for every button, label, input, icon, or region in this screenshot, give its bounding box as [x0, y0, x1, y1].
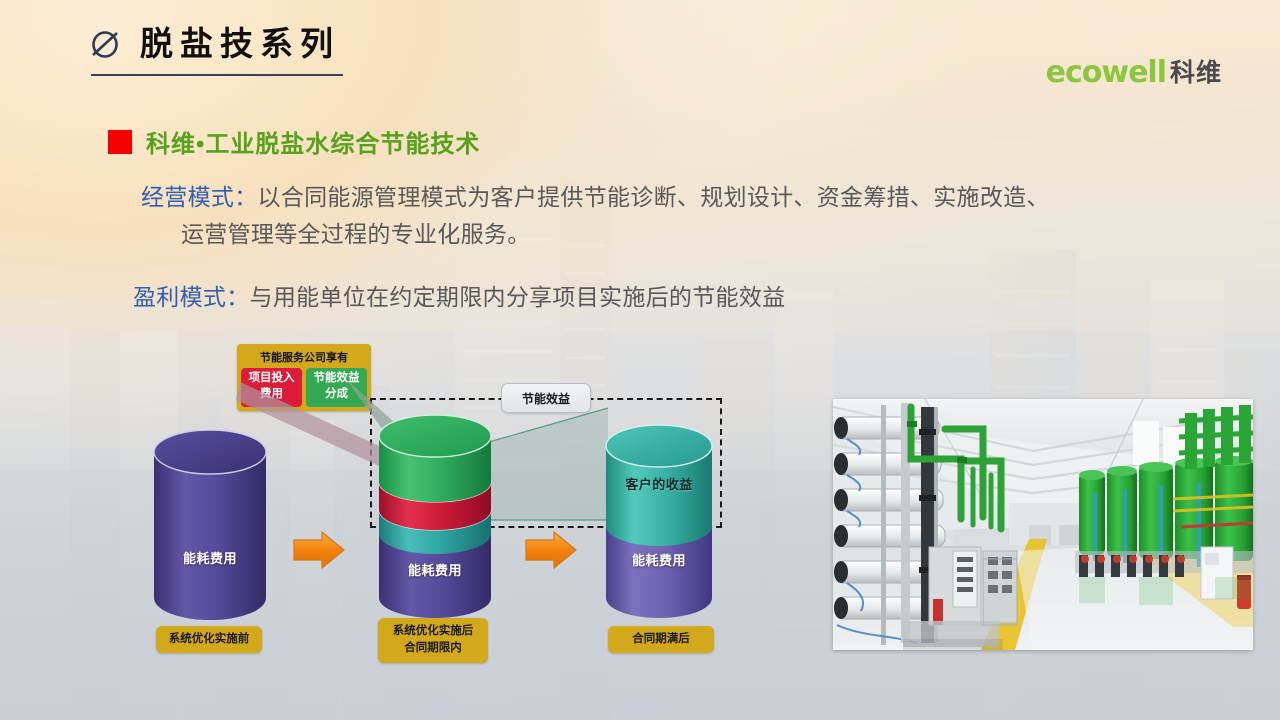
- paragraph-key-1: 经营模式: [141, 184, 234, 210]
- paragraph-sep-1: ：: [234, 184, 257, 210]
- esco-diagram: 节能服务公司享有 项目投入 费用 节能效益 分成 节能效益: [0, 330, 800, 720]
- cylinder-during-shape: [377, 414, 493, 620]
- page-title: 脱盐技系列: [140, 27, 340, 60]
- cylinder-after-contract: 客户的收益 能耗费用: [604, 422, 714, 620]
- section-subheading: 科维•工业脱盐水综合节能技术: [108, 124, 1228, 159]
- stage-tag-during: 系统优化实施后 合同期限内: [378, 618, 488, 663]
- subheading-text: 科维•工业脱盐水综合节能技术: [146, 124, 480, 159]
- cylinder-before-shape: [152, 430, 268, 620]
- desalination-plant-photo: [833, 399, 1253, 650]
- arrow-right-icon-2: [524, 530, 580, 570]
- stage-tag-before-line1: 系统优化实施前: [166, 631, 252, 648]
- cylinder-before-label: 能耗费用: [152, 548, 268, 567]
- stage-tag-during-line1: 系统优化实施后: [388, 623, 478, 640]
- logo-text-en: ecowell: [1046, 58, 1166, 88]
- cylinder-before-optimization: 能耗费用: [152, 430, 268, 620]
- stage-tag-after: 合同期满后: [608, 626, 714, 653]
- arrow-right-icon-1: [292, 530, 348, 570]
- paragraph-line-2: 运营管理等全过程的专业化服务。: [141, 216, 1228, 253]
- stage-tag-during-line2: 合同期限内: [388, 640, 478, 657]
- slide-header: 脱盐技系列: [88, 26, 343, 76]
- cylinder-during-energy-label: 能耗费用: [377, 560, 493, 579]
- content-block: 科维•工业脱盐水综合节能技术 经营模式：以合同能源管理模式为客户提供节能诊断、规…: [108, 124, 1228, 316]
- circle-slash-icon: [88, 26, 122, 60]
- stage-tag-before: 系统优化实施前: [156, 626, 262, 653]
- red-square-bullet-icon: [108, 130, 132, 154]
- logo-text-cn: 科维: [1170, 61, 1222, 86]
- brand-logo: ecowell 科维: [1046, 58, 1222, 88]
- paragraph-line-3: 与用能单位在约定期限内分享项目实施后的节能效益: [250, 284, 786, 310]
- cylinder-after-shape: [604, 422, 714, 620]
- cylinder-after-energy-label: 能耗费用: [604, 550, 714, 569]
- paragraph-profit-model: 盈利模式：与用能单位在约定期限内分享项目实施后的节能效益: [108, 279, 1228, 316]
- savings-region-label: 节能效益: [501, 383, 591, 413]
- stage-tag-after-line1: 合同期满后: [618, 631, 704, 648]
- paragraph-key-2: 盈利模式: [133, 284, 226, 310]
- slide: 脱盐技系列 ecowell 科维 科维•工业脱盐水综合节能技术 经营模式：以合同…: [0, 0, 1280, 720]
- title-underline: [91, 74, 343, 76]
- cylinder-after-benefit-label: 客户的收益: [604, 474, 714, 493]
- paragraph-line-1: 以合同能源管理模式为客户提供节能诊断、规划设计、资金筹措、实施改造、: [258, 184, 1050, 210]
- cylinder-during-contract: 能耗费用: [377, 414, 493, 620]
- paragraph-sep-2: ：: [226, 284, 249, 310]
- paragraph-business-model: 经营模式：以合同能源管理模式为客户提供节能诊断、规划设计、资金筹措、实施改造、 …: [108, 179, 1228, 254]
